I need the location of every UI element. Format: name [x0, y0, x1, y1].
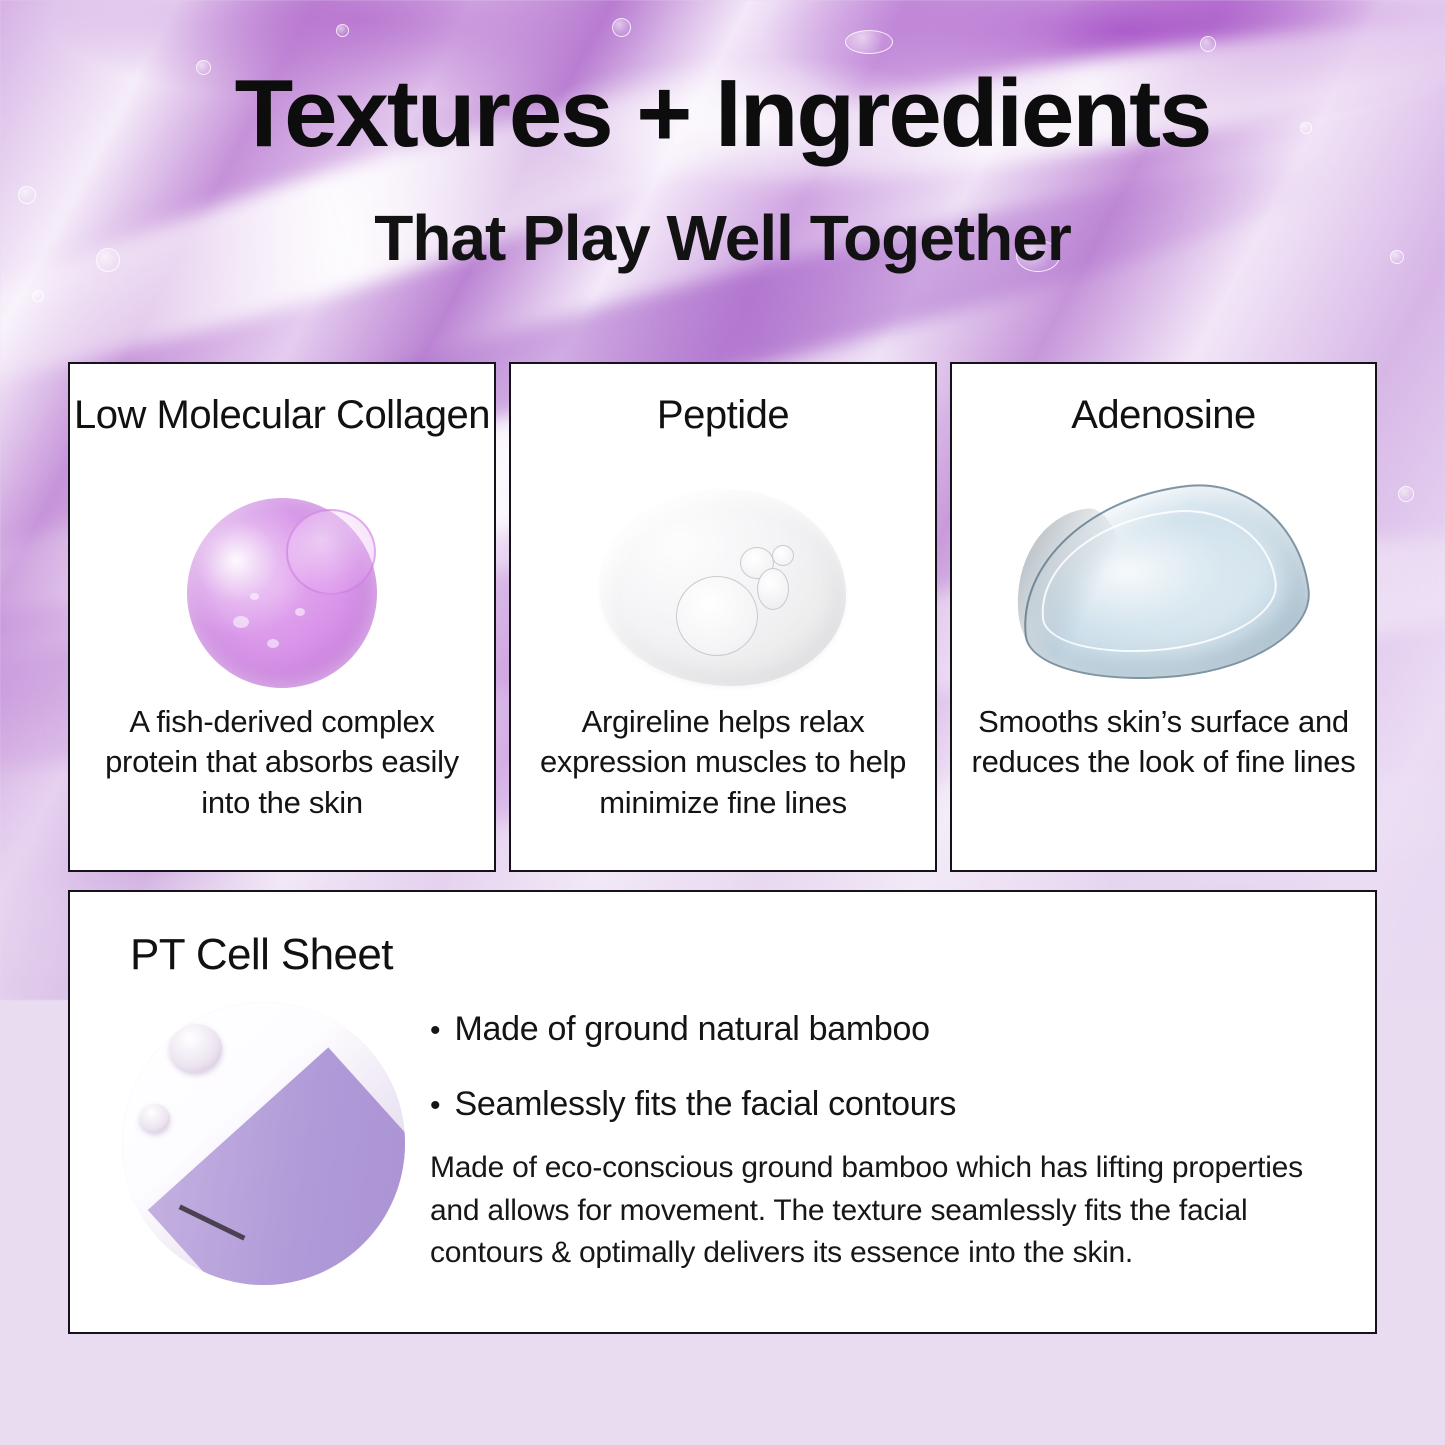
ingredient-card-collagen: Low Molecular Collagen A fish-derived co… [68, 362, 496, 872]
background-bubble [612, 18, 631, 37]
white-gel-blob-shape [600, 490, 846, 686]
ingredient-card-title: Adenosine [952, 394, 1375, 436]
ingredient-card-description: A fish-derived complex protein that abso… [88, 702, 476, 823]
bubble-inner-highlight [286, 509, 376, 595]
background-bubble [1200, 36, 1216, 52]
ingredient-card-adenosine: Adenosine Smooths skin’s surface and red… [950, 362, 1377, 872]
sheet-mask-texture-circle-icon [122, 1002, 405, 1285]
ingredient-card-description: Smooths skin’s surface and reduces the l… [970, 702, 1357, 783]
list-item: • Made of ground natural bamboo [430, 1010, 1350, 1049]
purple-bubble-shape [187, 498, 377, 688]
background-bubble [18, 186, 36, 204]
bubble-speck [250, 593, 259, 600]
list-item: • Seamlessly fits the facial contours [430, 1085, 1350, 1124]
ingredient-card-title: Low Molecular Collagen [70, 394, 494, 436]
gel-bubble-tiny [772, 545, 794, 566]
ingredient-card-peptide: Peptide Argireline helps relax expressio… [509, 362, 937, 872]
bubble-speck [267, 639, 279, 648]
bubble-speck [295, 608, 305, 616]
bullet-dot-icon: • [430, 1091, 441, 1121]
peptide-gel-icon [511, 482, 935, 692]
background-bubble [32, 290, 44, 302]
gel-bubble-large [676, 576, 758, 656]
infographic-page: Textures + Ingredients That Play Well To… [0, 0, 1445, 1445]
background-bubble [845, 30, 893, 54]
gel-bubble-medium [757, 568, 789, 610]
page-title: Textures + Ingredients [0, 64, 1445, 165]
collagen-bubble-icon [70, 492, 494, 702]
pt-cell-sheet-bullet-list: • Made of ground natural bamboo • Seamle… [430, 1010, 1350, 1160]
ingredient-card-description: Argireline helps relax expression muscle… [529, 702, 917, 823]
water-droplet-small [140, 1104, 170, 1132]
water-droplet-large [170, 1024, 222, 1072]
pt-cell-sheet-card: PT Cell Sheet • Made of ground natural b… [68, 890, 1377, 1334]
background-bubble [336, 24, 349, 37]
page-subtitle: That Play Well Together [0, 205, 1445, 272]
bubble-speck [233, 616, 249, 628]
pt-cell-sheet-paragraph: Made of eco-conscious ground bamboo whic… [430, 1147, 1360, 1275]
bullet-dot-icon: • [430, 1016, 441, 1046]
list-item-label: Made of ground natural bamboo [455, 1010, 930, 1049]
background-bubble [1398, 486, 1414, 502]
blue-gel-teardrop-shape [1010, 473, 1316, 692]
ingredient-card-title: Peptide [511, 394, 935, 436]
pt-cell-sheet-title: PT Cell Sheet [130, 930, 393, 980]
adenosine-gel-icon [952, 482, 1375, 692]
list-item-label: Seamlessly fits the facial contours [455, 1085, 957, 1124]
